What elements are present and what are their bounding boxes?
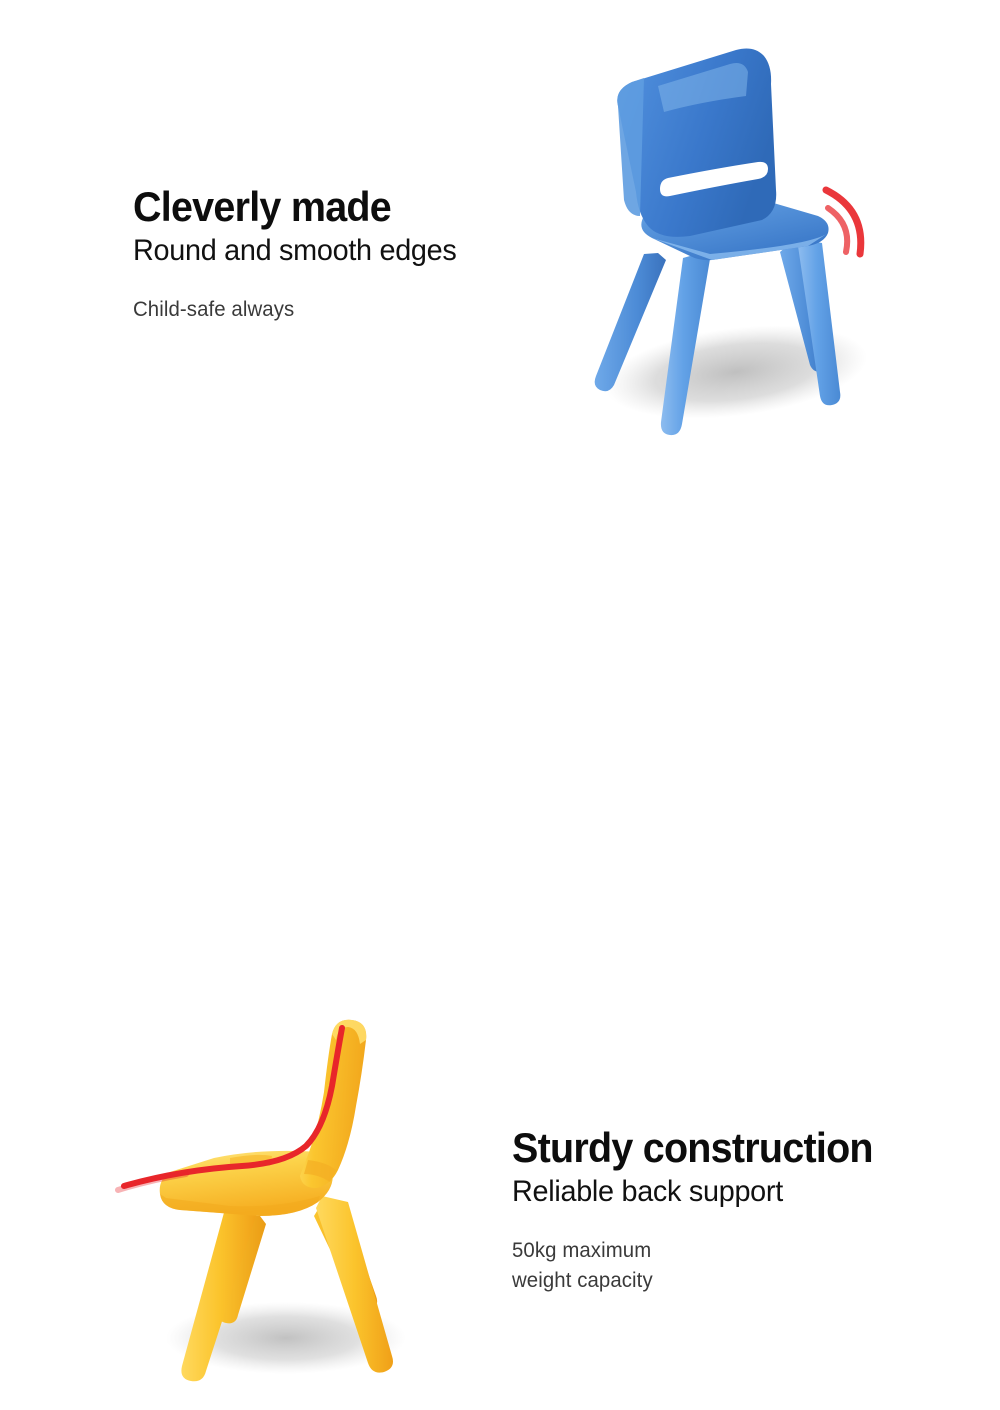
body-line: Child-safe always <box>133 295 460 325</box>
feature-panel-cleverly-made: Cleverly made Round and smooth edges Chi… <box>0 0 1000 500</box>
page-title-secondary: Sturdy construction <box>512 1127 873 1169</box>
body-line: 50kg maximum <box>512 1236 884 1266</box>
feature-panel-sturdy-construction: Sturdy construction Reliable back suppor… <box>0 500 1000 1000</box>
subheading: Round and smooth edges <box>133 234 457 269</box>
body-line: weight capacity <box>512 1266 884 1296</box>
chair-backrest-rim <box>617 78 644 216</box>
subheading-secondary: Reliable back support <box>512 1175 880 1210</box>
body-text: Child-safe always <box>133 295 460 325</box>
accent-arc-inner-icon <box>828 208 847 252</box>
copy-block-cleverly-made: Cleverly made Round and smooth edges Chi… <box>133 186 470 325</box>
page-title: Cleverly made <box>133 186 450 228</box>
product-image-yellow-chair <box>110 1010 470 1410</box>
copy-block-sturdy-construction: Sturdy construction Reliable back suppor… <box>512 1127 896 1296</box>
product-image-blue-chair <box>540 40 920 470</box>
body-text-secondary: 50kg maximum weight capacity <box>512 1236 884 1297</box>
